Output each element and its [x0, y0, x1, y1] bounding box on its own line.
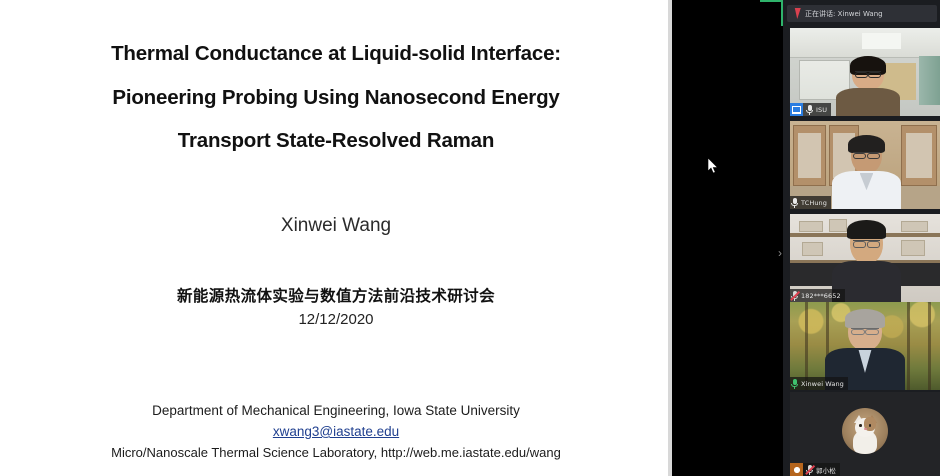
screen-share-badge-icon — [790, 103, 803, 116]
active-speaker-label: 正在讲话: Xinwei Wang — [805, 9, 883, 19]
slide-author: Xinwei Wang — [281, 215, 391, 237]
participant-nameplate: TCHung — [790, 196, 831, 209]
participant-tile[interactable]: TCHung — [790, 121, 940, 209]
slide-title-line-2: Pioneering Probing Using Nanosecond Ener… — [112, 88, 559, 109]
microphone-speaking-icon[interactable] — [790, 378, 799, 390]
participant-tile[interactable]: 郭小松 — [790, 392, 940, 476]
avatar — [842, 408, 888, 454]
participant-video-figure — [835, 58, 901, 116]
participant-tile[interactable]: ISU — [790, 28, 940, 116]
participant-nameplate: 182***6652 — [790, 289, 845, 302]
slide-footer: Department of Mechanical Engineering, Io… — [0, 403, 672, 476]
participant-nameplate: ISU — [790, 103, 831, 116]
participant-name: TCHung — [801, 199, 827, 207]
screen-share-meeting-window: Thermal Conductance at Liquid-solid Inte… — [0, 0, 940, 476]
slide-right-edge — [668, 0, 672, 476]
participant-name: Xinwei Wang — [801, 380, 844, 388]
slide-lab-line: Micro/Nanoscale Thermal Science Laborato… — [0, 445, 672, 460]
user-badge-icon — [790, 463, 803, 476]
mouse-cursor-icon — [708, 158, 719, 174]
screen-share-border-horizontal — [760, 0, 783, 2]
slide-department: Department of Mechanical Engineering, Io… — [0, 403, 672, 418]
slide-date: 12/12/2020 — [298, 311, 373, 328]
microphone-muted-icon[interactable] — [805, 464, 814, 476]
slide-title-line-3: Transport State-Resolved Raman — [178, 131, 494, 152]
microphone-icon[interactable] — [805, 104, 814, 116]
participant-nameplate: Xinwei Wang — [790, 377, 848, 390]
microphone-muted-icon[interactable] — [790, 290, 799, 302]
participant-name: ISU — [816, 106, 827, 114]
microphone-icon[interactable] — [790, 197, 799, 209]
slide-conference-name: 新能源热流体实验与数值方法前沿技术研讨会 — [177, 284, 495, 306]
slide-title-line-1: Thermal Conductance at Liquid-solid Inte… — [111, 44, 561, 65]
participant-video-panel: 正在讲话: Xinwei Wang ISU — [783, 0, 940, 476]
participant-name: 郭小松 — [816, 465, 836, 475]
slide-email-link[interactable]: xwang3@iastate.edu — [273, 424, 399, 439]
participant-video-figure — [832, 137, 901, 209]
participant-tile-active-speaker[interactable]: Xinwei Wang — [790, 302, 940, 390]
participant-tile[interactable]: 182***6652 — [790, 214, 940, 302]
speaking-indicator-icon — [792, 8, 801, 19]
shared-presentation-slide: Thermal Conductance at Liquid-solid Inte… — [0, 0, 672, 476]
active-speaker-bar: 正在讲话: Xinwei Wang — [787, 5, 937, 22]
participant-name: 182***6652 — [801, 292, 841, 300]
participant-nameplate: 郭小松 — [790, 463, 840, 476]
